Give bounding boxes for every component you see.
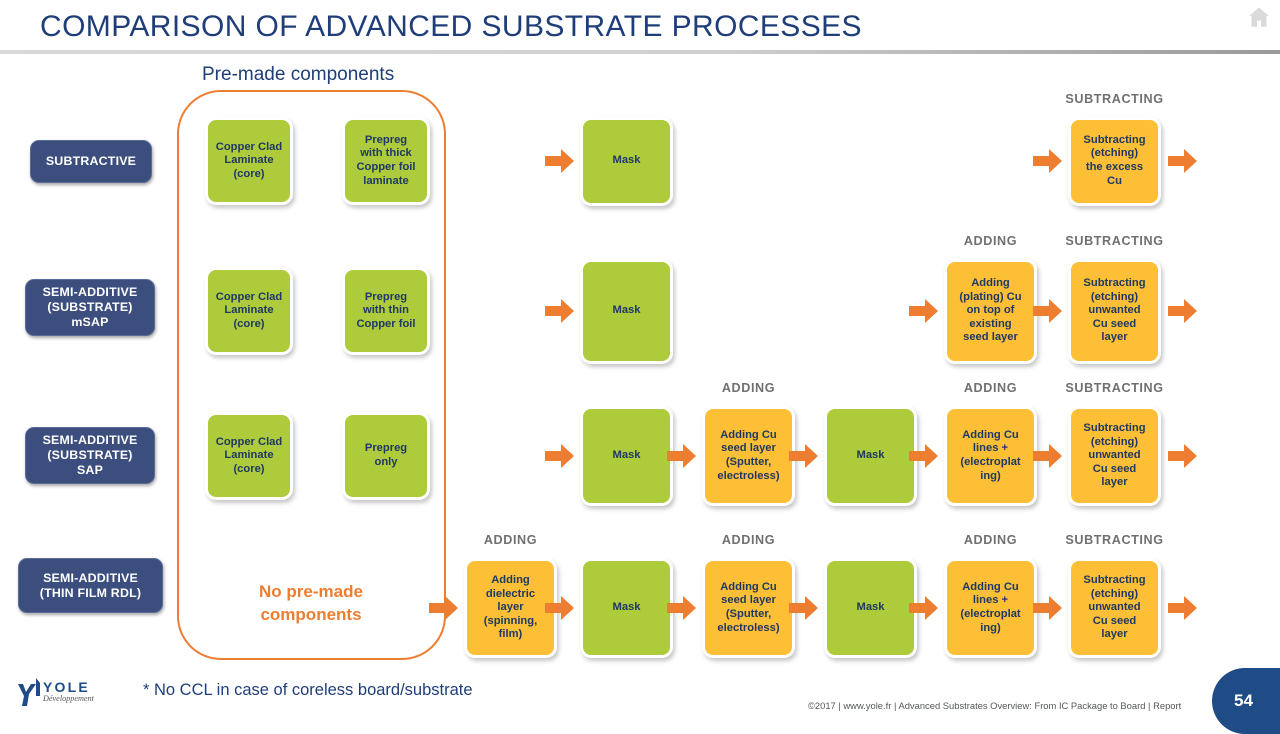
arrow-in-thin-film-rdl-5 bbox=[909, 595, 939, 621]
arrow-in-sap-4 bbox=[909, 443, 939, 469]
step-box-subtractive-1[interactable]: Mask bbox=[580, 117, 673, 206]
yole-logo: YOLE Développement bbox=[14, 672, 112, 708]
category-pill-subtractive[interactable]: SUBTRACTIVE bbox=[30, 140, 152, 183]
copyright-text: ©2017 | www.yole.fr | Advanced Substrate… bbox=[808, 700, 1181, 711]
arrow-in-thin-film-rdl-2 bbox=[545, 595, 575, 621]
box-label: Subtracting(etching)unwantedCu seedlayer bbox=[1083, 574, 1145, 642]
arrow-in-msap-3 bbox=[1033, 298, 1063, 324]
box-label: Prepregwith thinCopper foil bbox=[356, 291, 415, 332]
premade-box-r0-c1[interactable]: Prepregwith thickCopper foillaminate bbox=[342, 117, 430, 205]
step-box-thin-film-rdl-3[interactable]: Adding Cuseed layer(Sputter,electroless) bbox=[702, 558, 795, 658]
stage-label-msap-3: SUBTRACTING bbox=[1025, 234, 1205, 248]
arrow-in-thin-film-rdl-4 bbox=[789, 595, 819, 621]
arrow-in-sap-3 bbox=[789, 443, 819, 469]
step-box-thin-film-rdl-2[interactable]: Mask bbox=[580, 558, 673, 658]
category-pill-sap[interactable]: SEMI-ADDITIVE(SUBSTRATE)SAP bbox=[25, 427, 155, 484]
step-box-msap-3[interactable]: Subtracting(etching)unwantedCu seedlayer bbox=[1068, 259, 1161, 364]
arrow-out-sap bbox=[1168, 443, 1198, 469]
step-box-msap-2[interactable]: Adding(plating) Cuon top ofexistingseed … bbox=[944, 259, 1037, 364]
box-label: Adding(plating) Cuon top ofexistingseed … bbox=[959, 277, 1021, 345]
arrow-out-thin-film-rdl bbox=[1168, 595, 1198, 621]
box-label: Subtracting(etching)unwantedCu seedlayer bbox=[1083, 422, 1145, 490]
stage-label-thin-film-rdl-1: ADDING bbox=[421, 533, 601, 547]
box-label: Mask bbox=[613, 304, 641, 318]
premade-box-r1-c1[interactable]: Prepregwith thinCopper foil bbox=[342, 267, 430, 355]
box-label: Mask bbox=[613, 449, 641, 463]
category-pill-thin-film-rdl[interactable]: SEMI-ADDITIVE(THIN FILM RDL) bbox=[18, 558, 163, 613]
footnote: * No CCL in case of coreless board/subst… bbox=[143, 681, 473, 700]
step-box-sap-1[interactable]: Mask bbox=[580, 406, 673, 506]
stage-label-thin-film-rdl-6: SUBTRACTING bbox=[1025, 533, 1205, 547]
box-label: Subtracting(etching)unwantedCu seedlayer bbox=[1083, 277, 1145, 345]
slide-canvas: COMPARISON OF ADVANCED SUBSTRATE PROCESS… bbox=[0, 0, 1280, 720]
step-box-sap-5[interactable]: Subtracting(etching)unwantedCu seedlayer bbox=[1068, 406, 1161, 506]
step-box-subtractive-2[interactable]: Subtracting(etching)the excessCu bbox=[1068, 117, 1161, 206]
arrow-in-thin-film-rdl-3 bbox=[667, 595, 697, 621]
step-box-sap-2[interactable]: Adding Cuseed layer(Sputter,electroless) bbox=[702, 406, 795, 506]
box-label: Copper CladLaminate(core) bbox=[216, 141, 283, 182]
arrow-in-thin-film-rdl-1 bbox=[429, 595, 459, 621]
arrow-in-sap-1 bbox=[545, 443, 575, 469]
stage-label-sap-2: ADDING bbox=[659, 381, 839, 395]
premade-box-r2-c1[interactable]: Prepregonly bbox=[342, 412, 430, 500]
arrow-in-subtractive-2 bbox=[1033, 148, 1063, 174]
home-icon[interactable] bbox=[1246, 4, 1272, 30]
step-box-msap-1[interactable]: Mask bbox=[580, 259, 673, 364]
box-label: Mask bbox=[613, 154, 641, 168]
box-label: Mask bbox=[857, 449, 885, 463]
step-box-sap-4[interactable]: Adding Culines +(electroplating) bbox=[944, 406, 1037, 506]
step-box-thin-film-rdl-6[interactable]: Subtracting(etching)unwantedCu seedlayer bbox=[1068, 558, 1161, 658]
category-pill-label: SEMI-ADDITIVE(THIN FILM RDL) bbox=[40, 571, 141, 601]
category-pill-msap[interactable]: SEMI-ADDITIVE(SUBSTRATE)mSAP bbox=[25, 279, 155, 336]
arrow-in-msap-1 bbox=[545, 298, 575, 324]
arrow-out-msap bbox=[1168, 298, 1198, 324]
arrow-in-thin-film-rdl-6 bbox=[1033, 595, 1063, 621]
box-label: Mask bbox=[613, 601, 641, 615]
no-premade-components-label: No pre-madecomponents bbox=[201, 580, 421, 626]
box-label: Prepregwith thickCopper foillaminate bbox=[356, 134, 415, 188]
arrow-in-subtractive-1 bbox=[545, 148, 575, 174]
stage-label-thin-film-rdl-3: ADDING bbox=[659, 533, 839, 547]
premade-box-r0-c0[interactable]: Copper CladLaminate(core) bbox=[205, 117, 293, 205]
box-label: Mask bbox=[857, 601, 885, 615]
box-label: Addingdielectriclayer(spinning,film) bbox=[484, 574, 537, 642]
svg-text:Développement: Développement bbox=[42, 694, 95, 703]
premade-components-title: Pre-made components bbox=[202, 64, 394, 86]
page-number-badge: 54 bbox=[1212, 668, 1280, 734]
arrow-out-subtractive bbox=[1168, 148, 1198, 174]
box-label: Prepregonly bbox=[365, 442, 407, 469]
premade-box-r1-c0[interactable]: Copper CladLaminate(core) bbox=[205, 267, 293, 355]
arrow-in-msap-2 bbox=[909, 298, 939, 324]
title-divider bbox=[0, 50, 1280, 54]
step-box-sap-3[interactable]: Mask bbox=[824, 406, 917, 506]
step-box-thin-film-rdl-5[interactable]: Adding Culines +(electroplating) bbox=[944, 558, 1037, 658]
box-label: Subtracting(etching)the excessCu bbox=[1083, 134, 1145, 188]
box-label: Adding Culines +(electroplating) bbox=[960, 581, 1020, 635]
box-label: Adding Cuseed layer(Sputter,electroless) bbox=[717, 429, 779, 483]
arrow-in-sap-5 bbox=[1033, 443, 1063, 469]
arrow-in-sap-2 bbox=[667, 443, 697, 469]
page-title: COMPARISON OF ADVANCED SUBSTRATE PROCESS… bbox=[40, 10, 862, 44]
step-box-thin-film-rdl-4[interactable]: Mask bbox=[824, 558, 917, 658]
category-pill-label: SUBTRACTIVE bbox=[46, 154, 136, 169]
premade-box-r2-c0[interactable]: Copper CladLaminate(core) bbox=[205, 412, 293, 500]
stage-label-subtractive-2: SUBTRACTING bbox=[1025, 92, 1205, 106]
box-label: Copper CladLaminate(core) bbox=[216, 436, 283, 477]
svg-text:YOLE: YOLE bbox=[43, 679, 90, 695]
box-label: Copper CladLaminate(core) bbox=[216, 291, 283, 332]
stage-label-sap-5: SUBTRACTING bbox=[1025, 381, 1205, 395]
step-box-thin-film-rdl-1[interactable]: Addingdielectriclayer(spinning,film) bbox=[464, 558, 557, 658]
category-pill-label: SEMI-ADDITIVE(SUBSTRATE)SAP bbox=[43, 433, 138, 478]
box-label: Adding Cuseed layer(Sputter,electroless) bbox=[717, 581, 779, 635]
category-pill-label: SEMI-ADDITIVE(SUBSTRATE)mSAP bbox=[43, 285, 138, 330]
box-label: Adding Culines +(electroplating) bbox=[960, 429, 1020, 483]
